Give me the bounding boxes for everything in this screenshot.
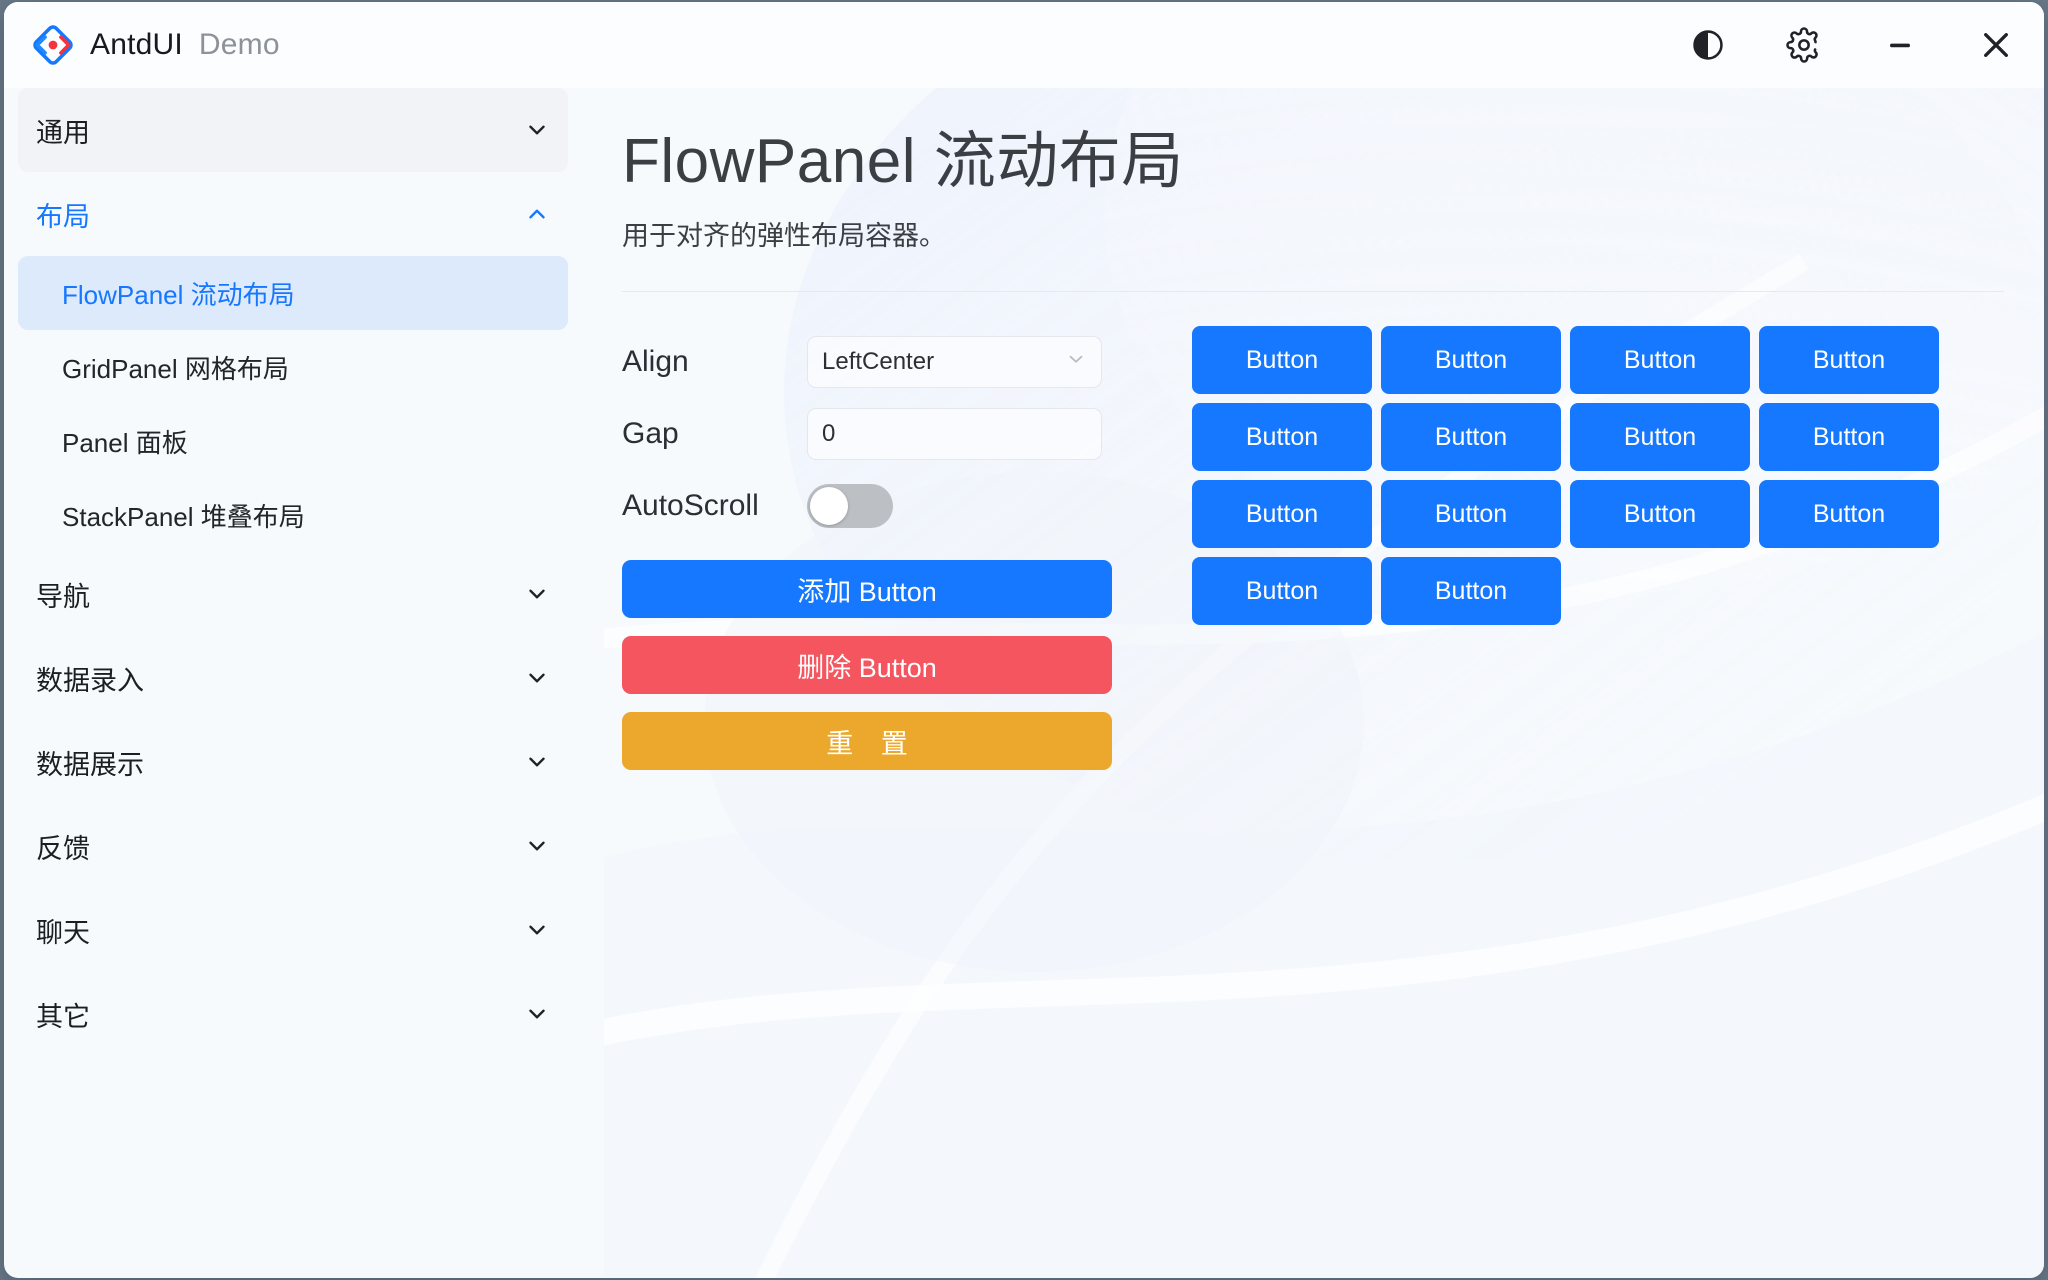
- sidebar-item-panel[interactable]: Panel 面板: [18, 404, 568, 478]
- settings-button[interactable]: [1756, 2, 1852, 88]
- sidebar-group-chat[interactable]: 聊天: [18, 888, 568, 972]
- sidebar-item-stackpanel[interactable]: StackPanel 堆叠布局: [18, 478, 568, 552]
- chevron-down-icon: [524, 581, 550, 607]
- flow-item-button[interactable]: Button: [1759, 326, 1939, 394]
- remove-button-action[interactable]: 删除 Button: [622, 636, 1112, 694]
- close-button[interactable]: [1948, 2, 2044, 88]
- flow-item-button[interactable]: Button: [1192, 403, 1372, 471]
- chevron-down-icon: [524, 749, 550, 775]
- flow-item-button[interactable]: Button: [1381, 403, 1561, 471]
- sidebar-item-label: FlowPanel 流动布局: [62, 275, 295, 312]
- sidebar-group-general[interactable]: 通用: [18, 88, 568, 172]
- autoscroll-row: AutoScroll: [622, 470, 1112, 542]
- reset-button-action[interactable]: 重 置: [622, 712, 1112, 770]
- main-content: FlowPanel 流动布局 用于对齐的弹性布局容器。 Align LeftCe…: [582, 88, 2044, 1278]
- sidebar-group-label: 通用: [36, 111, 90, 150]
- antdui-diamond-logo-icon: [32, 24, 74, 66]
- flow-item-button[interactable]: Button: [1192, 480, 1372, 548]
- sidebar-group-label: 导航: [36, 575, 90, 614]
- brand: AntdUI Demo: [4, 24, 280, 66]
- align-row: Align LeftCenter: [622, 326, 1112, 398]
- gap-label: Gap: [622, 417, 807, 451]
- gap-row: Gap 0: [622, 398, 1112, 470]
- demo-body: Align LeftCenter Gap 0 AutoScroll: [622, 326, 2004, 770]
- flow-item-button[interactable]: Button: [1570, 326, 1750, 394]
- chevron-down-icon: [524, 917, 550, 943]
- app-title-suffix: Demo: [199, 28, 280, 62]
- sidebar-group-label: 其它: [36, 995, 90, 1034]
- chevron-down-icon: [524, 665, 550, 691]
- theme-toggle-button[interactable]: [1660, 2, 1756, 88]
- sidebar-item-gridpanel[interactable]: GridPanel 网格布局: [18, 330, 568, 404]
- close-icon: [1977, 26, 2015, 64]
- gap-input[interactable]: 0: [807, 408, 1102, 460]
- app-title: AntdUI: [90, 28, 183, 62]
- chevron-down-icon: [1065, 348, 1087, 377]
- sidebar-group-others[interactable]: 其它: [18, 972, 568, 1056]
- gap-input-value: 0: [822, 420, 835, 448]
- flow-item-button[interactable]: Button: [1381, 480, 1561, 548]
- sidebar-group-label: 数据录入: [36, 659, 144, 698]
- flow-item-button[interactable]: Button: [1570, 480, 1750, 548]
- page-title: FlowPanel 流动布局: [622, 110, 2004, 200]
- header-divider: [622, 291, 2004, 292]
- sidebar-group-label: 布局: [36, 195, 90, 234]
- toggle-knob: [810, 487, 848, 525]
- sidebar-group-data-entry[interactable]: 数据录入: [18, 636, 568, 720]
- flow-panel: ButtonButtonButtonButtonButtonButtonButt…: [1192, 326, 1952, 770]
- align-select[interactable]: LeftCenter: [807, 336, 1102, 388]
- sidebar-item-flowpanel[interactable]: FlowPanel 流动布局: [18, 256, 568, 330]
- sidebar-item-label: StackPanel 堆叠布局: [62, 497, 305, 534]
- flow-item-button[interactable]: Button: [1381, 326, 1561, 394]
- align-label: Align: [622, 345, 807, 379]
- sidebar-item-label: GridPanel 网格布局: [62, 349, 289, 386]
- minimize-icon: [1883, 28, 1917, 62]
- gear-icon: [1786, 27, 1822, 63]
- autoscroll-toggle[interactable]: [807, 484, 893, 528]
- add-button-action[interactable]: 添加 Button: [622, 560, 1112, 618]
- chevron-down-icon: [524, 1001, 550, 1027]
- flow-item-button[interactable]: Button: [1759, 403, 1939, 471]
- title-bar: AntdUI Demo: [4, 2, 2044, 88]
- flow-item-button[interactable]: Button: [1381, 557, 1561, 625]
- flow-item-button[interactable]: Button: [1759, 480, 1939, 548]
- flow-item-button[interactable]: Button: [1570, 403, 1750, 471]
- sidebar-group-navigation[interactable]: 导航: [18, 552, 568, 636]
- sidebar-group-label: 数据展示: [36, 743, 144, 782]
- window-controls: [1660, 2, 2044, 88]
- flow-item-button[interactable]: Button: [1192, 557, 1372, 625]
- sidebar-group-data-display[interactable]: 数据展示: [18, 720, 568, 804]
- app-window: AntdUI Demo: [4, 2, 2044, 1278]
- controls-column: Align LeftCenter Gap 0 AutoScroll: [622, 326, 1112, 770]
- chevron-down-icon: [524, 117, 550, 143]
- sidebar: 通用 布局 FlowPanel 流动布局 GridPanel 网格布局 Pane…: [4, 88, 582, 1278]
- sidebar-item-label: Panel 面板: [62, 423, 188, 460]
- sidebar-group-label: 反馈: [36, 827, 90, 866]
- sidebar-group-feedback[interactable]: 反馈: [18, 804, 568, 888]
- align-select-value: LeftCenter: [822, 348, 1065, 376]
- flow-item-button[interactable]: Button: [1192, 326, 1372, 394]
- contrast-half-circle-icon: [1691, 28, 1725, 62]
- minimize-button[interactable]: [1852, 2, 1948, 88]
- chevron-down-icon: [524, 833, 550, 859]
- sidebar-group-layout[interactable]: 布局: [18, 172, 568, 256]
- chevron-up-icon: [524, 201, 550, 227]
- sidebar-group-label: 聊天: [36, 911, 90, 950]
- page-description: 用于对齐的弹性布局容器。: [622, 214, 2004, 253]
- autoscroll-label: AutoScroll: [622, 489, 807, 523]
